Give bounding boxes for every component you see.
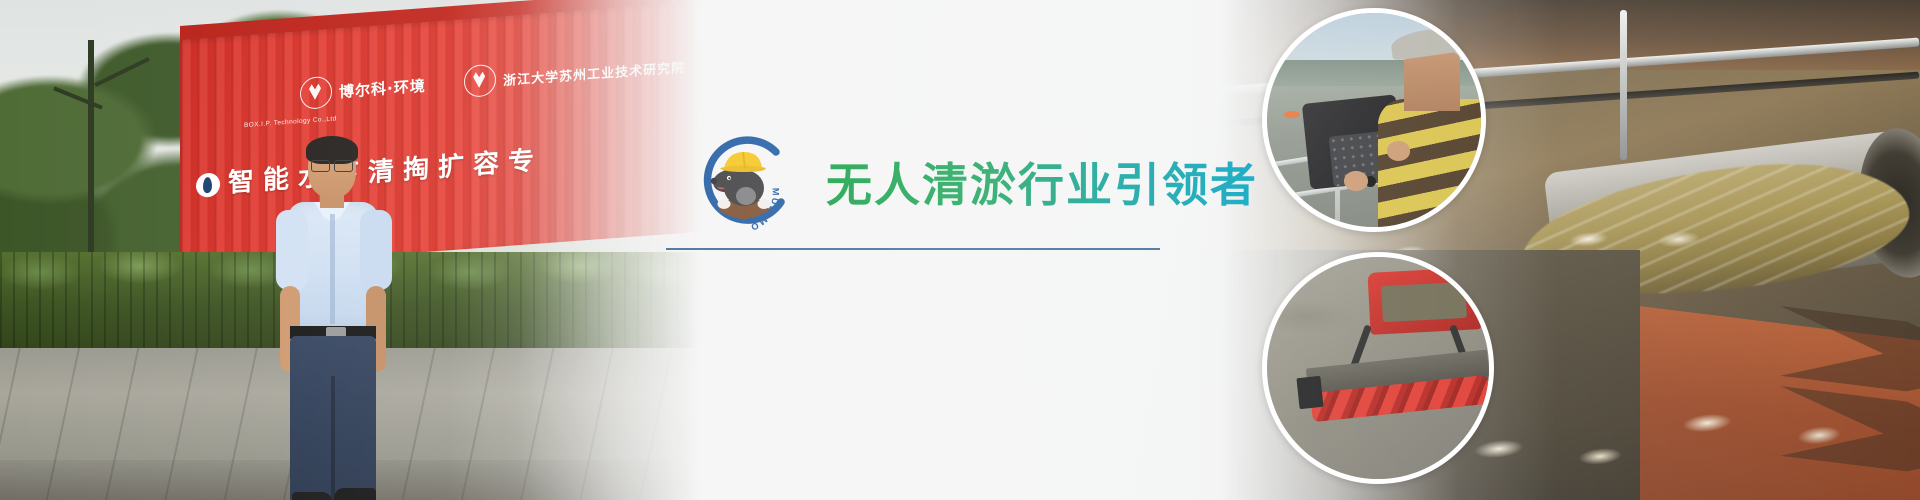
logo-mole-belly [736, 187, 756, 205]
engineer-person [268, 140, 398, 500]
dredging-robot-scene [1267, 257, 1489, 479]
operator-scene [1267, 13, 1481, 227]
partner-name: 浙江大学苏州工业技术研究院 [503, 56, 685, 88]
robot-hydraulics [1382, 281, 1468, 321]
eyeglasses-icon [311, 160, 353, 170]
railing-post [1620, 10, 1627, 160]
mud-mole-logo: MUD MOLE [688, 126, 800, 238]
circle-photo-dredging-robot [1262, 252, 1494, 484]
shirt-placket [330, 214, 335, 324]
shoe-left [292, 492, 332, 500]
center-content: MUD MOLE 无人清淤行业引领者 [660, 0, 1260, 500]
company-mark-icon [300, 76, 332, 110]
container-company-name: 博尔科·环境 [339, 74, 426, 101]
circle-photo-operator [1262, 8, 1486, 232]
hero-banner: 博尔科·环境BOX.I.P. Technology Co.,Ltd 浙江大学苏州… [0, 0, 1920, 500]
brand-row: MUD MOLE 无人清淤行业引领者 [688, 126, 1258, 238]
jeans [290, 336, 376, 500]
shirt-sleeve-right [360, 210, 392, 290]
logo-paw-left [718, 199, 731, 209]
auger-gearbox [1297, 376, 1325, 409]
operator-head [1404, 52, 1460, 112]
page-title: 无人清淤行业引领者 [826, 149, 1258, 215]
divider [666, 248, 1160, 250]
droplet-badge-icon [196, 172, 220, 198]
tree-trunk [88, 40, 94, 260]
hand-right [1387, 141, 1411, 160]
shoe-right [334, 488, 376, 500]
shirt-sleeve-left [276, 210, 308, 290]
hand-left [1344, 171, 1368, 190]
left-photo-engineer-container: 博尔科·环境BOX.I.P. Technology Co.,Ltd 浙江大学苏州… [0, 0, 700, 500]
logo-mole-snout [711, 178, 717, 184]
partner-mark-icon [464, 64, 496, 98]
striped-shirt [1378, 99, 1486, 227]
